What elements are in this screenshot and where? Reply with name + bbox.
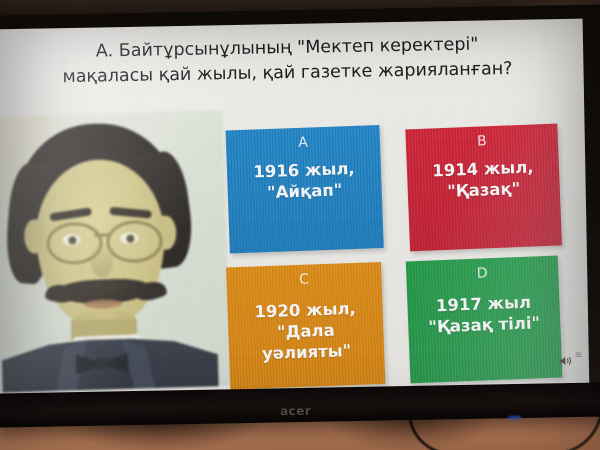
speaker-icon[interactable] — [559, 355, 573, 370]
answer-option-c[interactable]: C 1920 жыл, "Дала уәлияты" — [226, 262, 385, 389]
answer-letter-d: D — [477, 265, 488, 281]
quiz-slide: А. Байтұрсынұлының "Мектеп керектері" ма… — [0, 19, 589, 398]
answer-text-a: 1916 жыл, "Айқап" — [247, 158, 362, 204]
answer-text-a-line2: "Айқап" — [254, 179, 356, 204]
acer-logo: acer — [280, 404, 312, 419]
answer-text-b-line2: "Қазақ" — [433, 177, 535, 202]
answer-text-c-line2: "Дала уәлияты" — [234, 318, 378, 365]
answer-letter-c: C — [299, 272, 309, 288]
answer-option-a[interactable]: A 1916 жыл, "Айқап" — [226, 125, 384, 253]
answer-letter-b: B — [477, 133, 487, 149]
answer-option-d[interactable]: D 1917 жыл "Қазақ тілі" — [406, 256, 563, 384]
portrait-image — [0, 110, 231, 393]
answer-option-b[interactable]: B 1914 жыл, "Қазақ" — [405, 124, 562, 252]
answer-text-c: 1920 жыл, "Дала уәлияты" — [227, 297, 384, 366]
photograph-of-monitor: А. Байтұрсынұлының "Мектеп керектері" ма… — [0, 0, 600, 450]
monitor-screen: А. Байтұрсынұлының "Мектеп керектері" ма… — [0, 19, 589, 398]
portrait-overlay — [0, 110, 231, 393]
answer-letter-a: A — [298, 135, 308, 151]
answer-text-d: 1917 жыл "Қазақ тілі" — [421, 291, 546, 338]
question-text: А. Байтұрсынұлының "Мектеп керектері" ма… — [7, 31, 568, 91]
answer-text-d-line2: "Қазақ тілі" — [428, 312, 540, 337]
taskbar-extra-glyph: ≋ — [575, 352, 583, 361]
answer-options: A 1916 жыл, "Айқап" B 1914 ж — [225, 123, 580, 397]
power-indicator — [508, 416, 521, 419]
answer-text-b: 1914 жыл, "Қазақ" — [426, 156, 541, 202]
